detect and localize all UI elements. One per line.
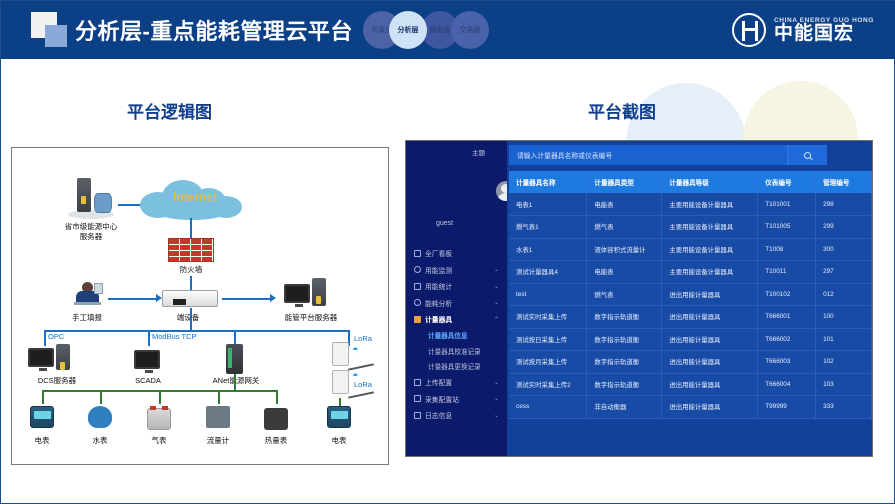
platform-server-label: 能管平台服务器 [266,313,356,322]
col-header-name[interactable]: 计量器具名称 [509,171,587,193]
theme-switcher[interactable]: 主题 [472,147,485,157]
sidebar-label-dashboard: 全厂看板 [425,248,452,258]
cell-type: 非自动衡器 [587,396,662,419]
left-section-title: 平台逻辑图 [127,98,212,123]
layer-circle-analysis[interactable]: 分析层 [389,11,427,49]
cell-meterno: T99999 [758,396,816,419]
table-header-row: 计量器具名称 计量器具类型 计量器具等级 仪表编号 管理编号 [509,171,872,193]
cell-grade: 主要用能设备计量器具 [662,261,758,284]
col-header-meterno[interactable]: 仪表编号 [758,171,816,193]
sidebar-label-upload-config: 上传配置 [425,377,452,387]
search-bar: 请输入计量器具名称或仪表编号 [509,145,827,165]
cell-grade: 进出用能计量器具 [662,373,758,396]
cell-type: 液体容积式流量计 [587,238,662,261]
collect-icon [414,395,421,402]
sidebar-label-logs: 日志信息 [425,410,452,420]
sidebar-label-meter-calibration: 计量器具校准记录 [428,346,481,356]
edge-device-label: 端设备 [158,313,218,322]
cell-grade: 进出用能计量器具 [662,283,758,306]
cell-name: 燃气表1 [509,216,587,239]
protocol-modbus-label: ModBus TCP [152,332,196,341]
cell-mgmtno: 102 [816,351,872,374]
cell-meterno: T10011 [758,261,816,284]
lora-device-2-icon [332,370,349,394]
cell-grade: 进出用能计量器具 [662,328,758,351]
cell-name: 测试实时采集上传2 [509,373,587,396]
lora-signal-1-icon: ◓ [352,344,359,356]
meter-icon-electric-2 [327,406,351,428]
table-row[interactable]: 水表1 液体容积式流量计 主要用能设备计量器具 T1008 300 [509,238,872,261]
log-icon [414,412,421,419]
cell-name: 测试实时采集上传 [509,306,587,329]
chevron-down-icon: ⌄ [494,379,499,386]
table-row[interactable]: test 燃气表 进出用能计量器具 T100102 012 [509,283,872,306]
chevron-down-icon: ⌄ [494,283,499,290]
search-button[interactable] [787,145,827,165]
cell-name: 水表1 [509,238,587,261]
sidebar-item-statistics[interactable]: 用能统计 ⌄ [406,278,507,295]
table-row[interactable]: 测试实时采集上传2 数字指示轨道衡 进出用能计量器具 T666004 103 [509,373,872,396]
meter-leg-1 [42,390,44,404]
brand-logo: CHINA ENERGY GUO HONG 中能国宏 [732,11,874,49]
cell-name: 测试按月采集上传 [509,351,587,374]
sidebar-item-upload-config[interactable]: 上传配置 ⌄ [406,374,507,391]
cell-type: 数字指示轨道衡 [587,351,662,374]
platform-monitor-icon [284,284,310,303]
cell-meterno: T666001 [758,306,816,329]
cell-mgmtno: 012 [816,283,872,306]
cell-type: 电能表 [587,193,662,216]
meter-label-1: 电表 [16,436,68,445]
meter-label-3: 气表 [133,436,185,445]
cell-meterno: T666002 [758,328,816,351]
dcs-tower-icon [56,344,70,370]
sidebar-item-logs[interactable]: 日志信息 ⌄ [406,407,507,424]
cell-mgmtno: 299 [816,216,872,239]
table-row[interactable]: 燃气表1 燃气表 主要用能设备计量器具 T101005 299 [509,216,872,239]
table-row[interactable]: 测试实时采集上传 数字指示轨道衡 进出用能计量器具 T666001 100 [509,306,872,329]
chevron-down-icon: ⌄ [494,412,499,419]
chevron-down-icon: ⌄ [494,266,499,273]
link-cloud-firewall [190,218,192,238]
table-row[interactable]: 测试计量器具4 电能表 主要用能设备计量器具 T10011 297 [509,261,872,284]
sidebar-item-metering[interactable]: 计量器具 ⌃ [406,311,507,328]
meter-icon-electric-1 [30,406,54,428]
firewall-label: 防火墙 [156,265,226,274]
sidebar-item-meter-info[interactable]: 计量器具信息 [406,328,507,344]
arrow-manual-to-edge-line [108,298,156,300]
internet-cloud-icon: Internet [140,178,244,222]
cell-mgmtno: 100 [816,306,872,329]
meter-icon-flow [206,406,230,428]
cell-name: 测试按日采集上传 [509,328,587,351]
cell-type: 数字指示轨道衡 [587,328,662,351]
cell-meterno: T666004 [758,373,816,396]
sidebar-item-meter-calibration[interactable]: 计量器具校准记录 [406,343,507,359]
meter-table: 计量器具名称 计量器具类型 计量器具等级 仪表编号 管理编号 电表1 电能表 主… [509,171,872,419]
meter-label-4: 流量计 [192,436,244,445]
stats-icon [414,283,421,290]
meter-label-5: 热量表 [250,436,302,445]
cell-meterno: T101005 [758,216,816,239]
cell-name: 电表1 [509,193,587,216]
bus-drop-from-edge [190,308,192,330]
platform-tower-icon [312,278,326,306]
sidebar-label-collect-config: 采集配置站 [425,394,459,404]
monitor-icon [414,266,421,273]
meter-leg-4 [218,390,220,404]
chevron-down-icon: ⌄ [494,299,499,306]
cell-type: 电能表 [587,261,662,284]
meter-icon-heat [264,408,288,430]
cell-meterno: T666003 [758,351,816,374]
right-section-title: 平台截图 [588,98,656,123]
meter-icon-gas [147,408,171,430]
page-title: 分析层-重点能耗管理云平台 [75,14,353,46]
sidebar-label-meter-info: 计量器具信息 [428,330,468,340]
manual-entry-icon [72,282,102,308]
manual-entry-label: 手工填报 [52,313,122,322]
sidebar-item-monitoring[interactable]: 用能监测 ⌄ [406,262,507,279]
sidebar-label-monitoring: 用能监测 [425,265,452,275]
sidebar-menu: 全厂看板 用能监测 ⌄ 用能统计 ⌄ 能耗分析 ⌄ [406,245,507,424]
database-icon [94,193,112,213]
bus-leg-scada [148,330,150,346]
table-row[interactable]: 测试按日采集上传 数字指示轨道衡 进出用能计量器具 T666002 101 [509,328,872,351]
dcs-monitor-icon [28,348,54,367]
cell-mgmtno: 333 [816,396,872,419]
table-row[interactable]: 测试按月采集上传 数字指示轨道衡 进出用能计量器具 T666003 102 [509,351,872,374]
meter-leg-2 [100,390,102,404]
cell-name: test [509,283,587,306]
firewall-icon [168,238,214,262]
central-server-tower-icon [77,178,91,212]
cell-meterno: T101001 [758,193,816,216]
arrow-edge-to-platform-head [270,294,276,302]
meter-icon-water [88,406,112,428]
cell-mgmtno: 300 [816,238,872,261]
lora-label-2: LoRa [354,380,372,389]
brand-mark-icon [732,13,766,47]
cell-grade: 主要用能设备计量器具 [662,238,758,261]
cell-name: cess [509,396,587,419]
dashboard-icon [414,250,421,257]
layer-circle-trade[interactable]: 交易层 [451,11,489,49]
sidebar-item-collect-config[interactable]: 采集配置站 ⌄ [406,391,507,408]
cell-name: 测试计量器具4 [509,261,587,284]
meter-label-6: 电表 [313,436,365,445]
brand-name-cn: 中能国宏 [774,24,874,44]
protocol-opc-label: OPC [48,332,64,341]
dcs-label: DCS服务器 [22,376,92,385]
sidebar-label-analysis: 能耗分析 [425,298,452,308]
cell-type: 燃气表 [587,283,662,306]
sidebar-item-analysis[interactable]: 能耗分析 ⌄ [406,295,507,312]
cell-type: 数字指示轨道衡 [587,306,662,329]
col-header-type[interactable]: 计量器具类型 [587,171,662,193]
meter-bus-drop [234,374,236,390]
table-row[interactable]: cess 非自动衡器 进出用能计量器具 T99999 333 [509,396,872,419]
cell-meterno: T1008 [758,238,816,261]
sidebar-item-dashboard[interactable]: 全厂看板 [406,245,507,262]
anet-gateway-label: ANet能源网关 [198,376,274,385]
search-input[interactable]: 请输入计量器具名称或仪表编号 [509,150,787,160]
platform-logic-diagram: 省市级能源中心 服务器 Internet 防火墙 手工填报 端设备 [11,147,389,465]
cell-type: 数字指示轨道衡 [587,373,662,396]
central-server-label-line2: 服务器 [46,232,136,241]
cell-grade: 主要用能设备计量器具 [662,216,758,239]
col-header-grade[interactable]: 计量器具等级 [662,171,758,193]
cell-grade: 进出用能计量器具 [662,306,758,329]
lora-antenna-1-icon [348,354,374,368]
link-server-cloud [118,204,142,206]
logo-square-blue [45,25,67,47]
internet-label: Internet [160,190,230,204]
sidebar-label-meter-replacement: 计量器具更换记录 [428,361,481,371]
cell-mgmtno: 103 [816,373,872,396]
meter-leg-3 [159,390,161,404]
scada-label: SCADA [116,376,180,385]
platform-screenshot: 主题 guest 全厂看板 用能监测 ⌄ 用能统计 ⌄ [405,140,873,457]
anet-gateway-icon [226,344,243,374]
search-icon [804,152,811,159]
sidebar-item-meter-replacement[interactable]: 计量器具更换记录 [406,359,507,375]
cell-mgmtno: 101 [816,328,872,351]
edge-device-icon [162,290,218,307]
cell-grade: 进出用能计量器具 [662,396,758,419]
sidebar-label-metering: 计量器具 [425,314,452,324]
col-header-mgmtno[interactable]: 管理编号 [816,171,872,193]
meter-leg-5 [276,390,278,404]
lora-device-1-icon [332,342,349,366]
arrow-edge-to-platform-line [222,298,270,300]
table-row[interactable]: 电表1 电能表 主要用能设备计量器具 T101001 298 [509,193,872,216]
cell-grade: 主要用能设备计量器具 [662,193,758,216]
slide-root: 分析层-重点能耗管理云平台 采集层 服务层 交易层 分析层 CHINA ENER… [0,0,895,504]
cell-mgmtno: 298 [816,193,872,216]
table-body: 电表1 电能表 主要用能设备计量器具 T101001 298 燃气表1 燃气表 … [509,193,872,418]
cell-type: 燃气表 [587,216,662,239]
app-main: 请输入计量器具名称或仪表编号 计量器具名称 计量器具类型 计量器具等级 仪表编号… [507,141,872,456]
upload-icon [414,379,421,386]
meter-icon [414,316,421,323]
scada-monitor-icon [134,350,160,369]
top-banner: 分析层-重点能耗管理云平台 采集层 服务层 交易层 分析层 CHINA ENER… [1,1,895,59]
app-sidebar: 主题 guest 全厂看板 用能监测 ⌄ 用能统计 ⌄ [406,141,507,456]
username-label: guest [436,220,453,227]
cell-mgmtno: 297 [816,261,872,284]
chevron-up-icon: ⌃ [494,316,499,323]
central-server-label-line1: 省市级能源中心 [46,222,136,231]
meter-label-2: 水表 [74,436,126,445]
bus-horizontal [44,330,350,332]
bus-leg-dcs [44,330,46,346]
analysis-icon [414,299,421,306]
cell-grade: 进出用能计量器具 [662,351,758,374]
lora-label-1: LoRa [354,334,372,343]
sidebar-label-statistics: 用能统计 [425,281,452,291]
chevron-down-icon: ⌄ [494,395,499,402]
cell-meterno: T100102 [758,283,816,306]
